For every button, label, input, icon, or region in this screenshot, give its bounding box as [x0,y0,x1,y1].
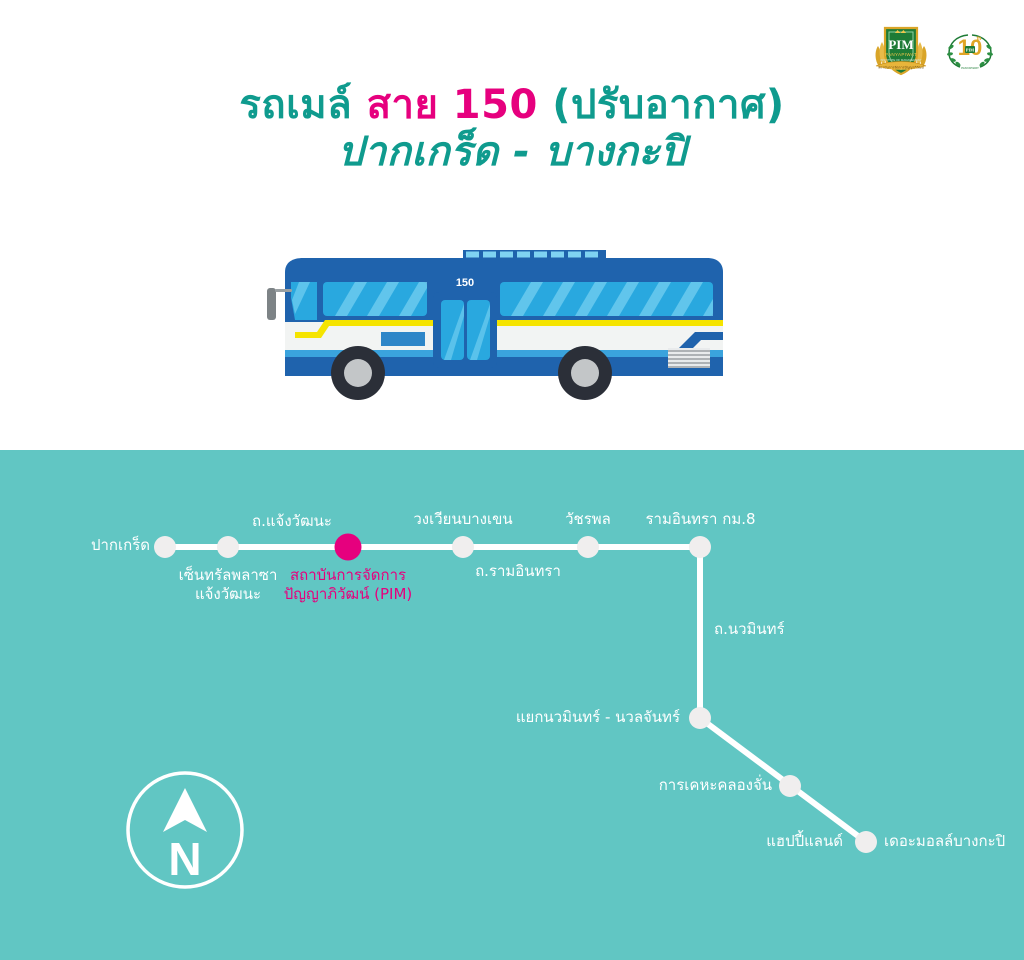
anniversary-10-logo: 10 th PIM PANYAPIWAT [944,29,996,71]
station-dot-happyland-bangkapi [855,831,877,853]
route-number-sign: 150 [435,272,495,290]
station-dot-kheha-khlong-chan [779,775,801,797]
station-dot-wongwian-bangkhen [452,536,474,558]
compass-letter-n: N [168,833,201,885]
station-label-watcharapon: วัชรพล [533,510,643,529]
title-part-1: รถเมล์ [239,82,366,128]
road-label-nawamin: ถ.นวมินทร์ [714,620,785,639]
route-map-panel: N ปากเกร็ด เซ็นทรัลพลาซา แจ้งวัฒนะ สถาบั… [0,450,1024,960]
station-dot-ram-inthra-km8 [689,536,711,558]
station-label-happyland: แฮปปี้แลนด์ [700,832,843,851]
station-label-the-mall-bangkapi: เดอะมอลล์บางกะปิ [884,832,1005,851]
title-part-3: (ปรับอากาศ) [552,82,784,128]
station-label-nawamin-nuanchan: แยกนวมินทร์ - นวลจันทร์ [452,708,680,727]
station-label-pim: สถาบันการจัดการ ปัญญาภิวัฒน์ (PIM) [268,566,428,604]
bus-door [433,292,497,368]
svg-text:PIM: PIM [966,47,974,52]
title-line-1: รถเมล์ สาย 150 (ปรับอากาศ) [0,82,1024,129]
header-panel: PIM PANYAPIWAT INSTITUTE OF MANAGEMENT ส… [0,0,1024,450]
svg-text:th: th [977,36,982,42]
station-label-pakkret: ปากเกร็ด [10,536,150,555]
station-label-kheha-khlong-chan: การเคหะคลองจั่น [590,776,772,795]
bus-side-panel [381,332,425,346]
station-dot-pakkret [154,536,176,558]
station-label-wongwian-bangkhen: วงเวียนบางเขน [393,510,533,529]
svg-text:PIM: PIM [888,37,913,52]
svg-text:สถาบันการจัดการปัญญาภิวัฒน์: สถาบันการจัดการปัญญาภิวัฒน์ [878,66,924,70]
pim-logo: PIM PANYAPIWAT INSTITUTE OF MANAGEMENT ส… [870,22,932,78]
station-dot-pim-highlight [335,534,362,561]
station-label-ram-inthra-km8: รามอินทรา กม.8 [628,510,773,529]
bus-wheel-front [331,346,385,400]
bus-windows [291,282,713,320]
station-dot-nawamin-nuanchan [689,707,711,729]
road-label-chaengwattana: ถ.แจ้งวัฒนะ [222,512,362,531]
station-dot-watcharapon [577,536,599,558]
roof-vents-icon [463,250,606,259]
route-number-text: 150 [456,277,474,289]
infographic-root: PIM PANYAPIWAT INSTITUTE OF MANAGEMENT ส… [0,0,1024,960]
bus-illustration: 150 [255,236,735,410]
svg-text:PANYAPIWAT: PANYAPIWAT [885,52,917,57]
bus-wheel-rear [558,346,612,400]
title-line-2-route-endpoints: ปากเกร็ด - บางกะปิ [0,129,1024,176]
logo-group: PIM PANYAPIWAT INSTITUTE OF MANAGEMENT ส… [870,22,996,78]
svg-text:PANYAPIWAT: PANYAPIWAT [961,66,979,70]
station-dot-central-plaza [217,536,239,558]
page-title: รถเมล์ สาย 150 (ปรับอากาศ) ปากเกร็ด - บา… [0,82,1024,176]
compass-needle-north [163,788,207,832]
road-label-ram-inthra: ถ.รามอินทรา [448,562,588,581]
title-part-2-route: สาย 150 [367,82,553,128]
bus-rear-grille-icon [668,348,710,368]
